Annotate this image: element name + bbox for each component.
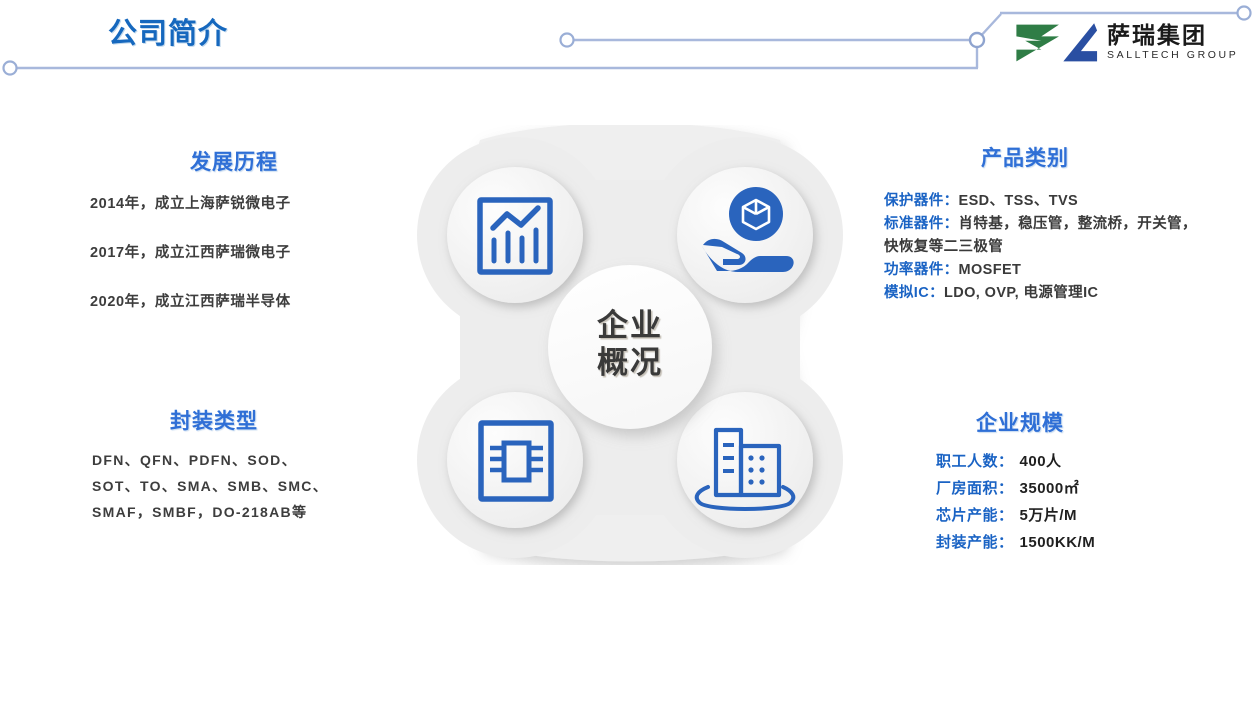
logo-name-en: SALLTECH GROUP <box>1107 48 1238 63</box>
section-body-scale: 职工人数： 400人 厂房面积： 35000㎡ 芯片产能： 5万片/M 封装产能… <box>884 448 1204 556</box>
scale-value: 1500KK/M <box>1020 529 1096 556</box>
scale-label: 芯片产能： <box>936 502 1014 529</box>
trace-node-junction <box>970 33 984 47</box>
page-title: 公司简介 <box>108 10 228 52</box>
product-row: 标准器件：肖特基，稳压管，整流桥，开关管，快恢复等二三极管 <box>884 213 1204 259</box>
product-label: 标准器件： <box>884 216 959 232</box>
timeline-item: 2014年，成立上海萨锐微电子 <box>90 192 390 213</box>
trace-node-mid <box>561 34 574 47</box>
scale-label: 厂房面积： <box>936 475 1014 502</box>
product-label: 保护器件： <box>884 193 959 209</box>
section-title-package: 封装类型 <box>100 405 328 435</box>
section-body-products: 保护器件：ESD、TSS、TVS 标准器件：肖特基，稳压管，整流桥，开关管，快恢… <box>884 190 1204 305</box>
company-logo: 萨瑞集团 SALLTECH GROUP <box>1012 20 1238 66</box>
scale-value: 5万片/M <box>1020 502 1078 529</box>
product-label: 模拟IC： <box>884 285 944 301</box>
scale-label: 职工人数： <box>936 448 1014 475</box>
scale-row: 职工人数： 400人 <box>884 448 1204 475</box>
product-row: 功率器件：MOSFET <box>884 259 1204 282</box>
scale-value: 400人 <box>1020 448 1062 475</box>
section-title-products: 产品类别 <box>870 142 1180 172</box>
center-diagram: 企业 概况 <box>405 125 855 565</box>
package-type-list: DFN、QFN、PDFN、SOD、SOT、TO、SMA、SMB、SMC、SMAF… <box>92 447 344 525</box>
slide-company-profile: 公司简介 萨瑞集团 SALLTECH GROUP 发展历程 2014年，成立上海… <box>0 0 1255 706</box>
product-value: ESD、TSS、TVS <box>959 193 1079 209</box>
timeline-item: 2020年，成立江西萨瑞半导体 <box>90 290 390 311</box>
section-body-development: 2014年，成立上海萨锐微电子 2017年，成立江西萨瑞微电子 2020年，成立… <box>90 192 390 339</box>
scale-value: 35000㎡ <box>1020 475 1080 502</box>
product-row: 保护器件：ESD、TSS、TVS <box>884 190 1204 213</box>
trace-node-left <box>4 62 17 75</box>
trace-node-right <box>1238 7 1251 20</box>
section-title-scale: 企业规模 <box>880 407 1160 437</box>
product-value: MOSFET <box>959 262 1022 278</box>
scale-row: 芯片产能： 5万片/M <box>884 502 1204 529</box>
logo-text-block: 萨瑞集团 SALLTECH GROUP <box>1107 23 1238 63</box>
section-body-package: DFN、QFN、PDFN、SOD、SOT、TO、SMA、SMB、SMC、SMAF… <box>92 447 344 525</box>
timeline-item: 2017年，成立江西萨瑞微电子 <box>90 241 390 262</box>
section-title-development: 发展历程 <box>100 146 368 176</box>
scale-label: 封装产能： <box>936 529 1014 556</box>
product-row: 模拟IC：LDO, OVP, 电源管理IC <box>884 282 1204 305</box>
scale-row: 封装产能： 1500KK/M <box>884 529 1204 556</box>
logo-name-cn: 萨瑞集团 <box>1107 23 1238 47</box>
diagram-center-circle <box>548 265 712 429</box>
scale-row: 厂房面积： 35000㎡ <box>884 475 1204 502</box>
product-label: 功率器件： <box>884 262 959 278</box>
logo-mark-icon <box>1012 20 1100 66</box>
slide-header: 公司简介 萨瑞集团 SALLTECH GROUP <box>0 0 1255 100</box>
product-value: LDO, OVP, 电源管理IC <box>944 285 1098 301</box>
